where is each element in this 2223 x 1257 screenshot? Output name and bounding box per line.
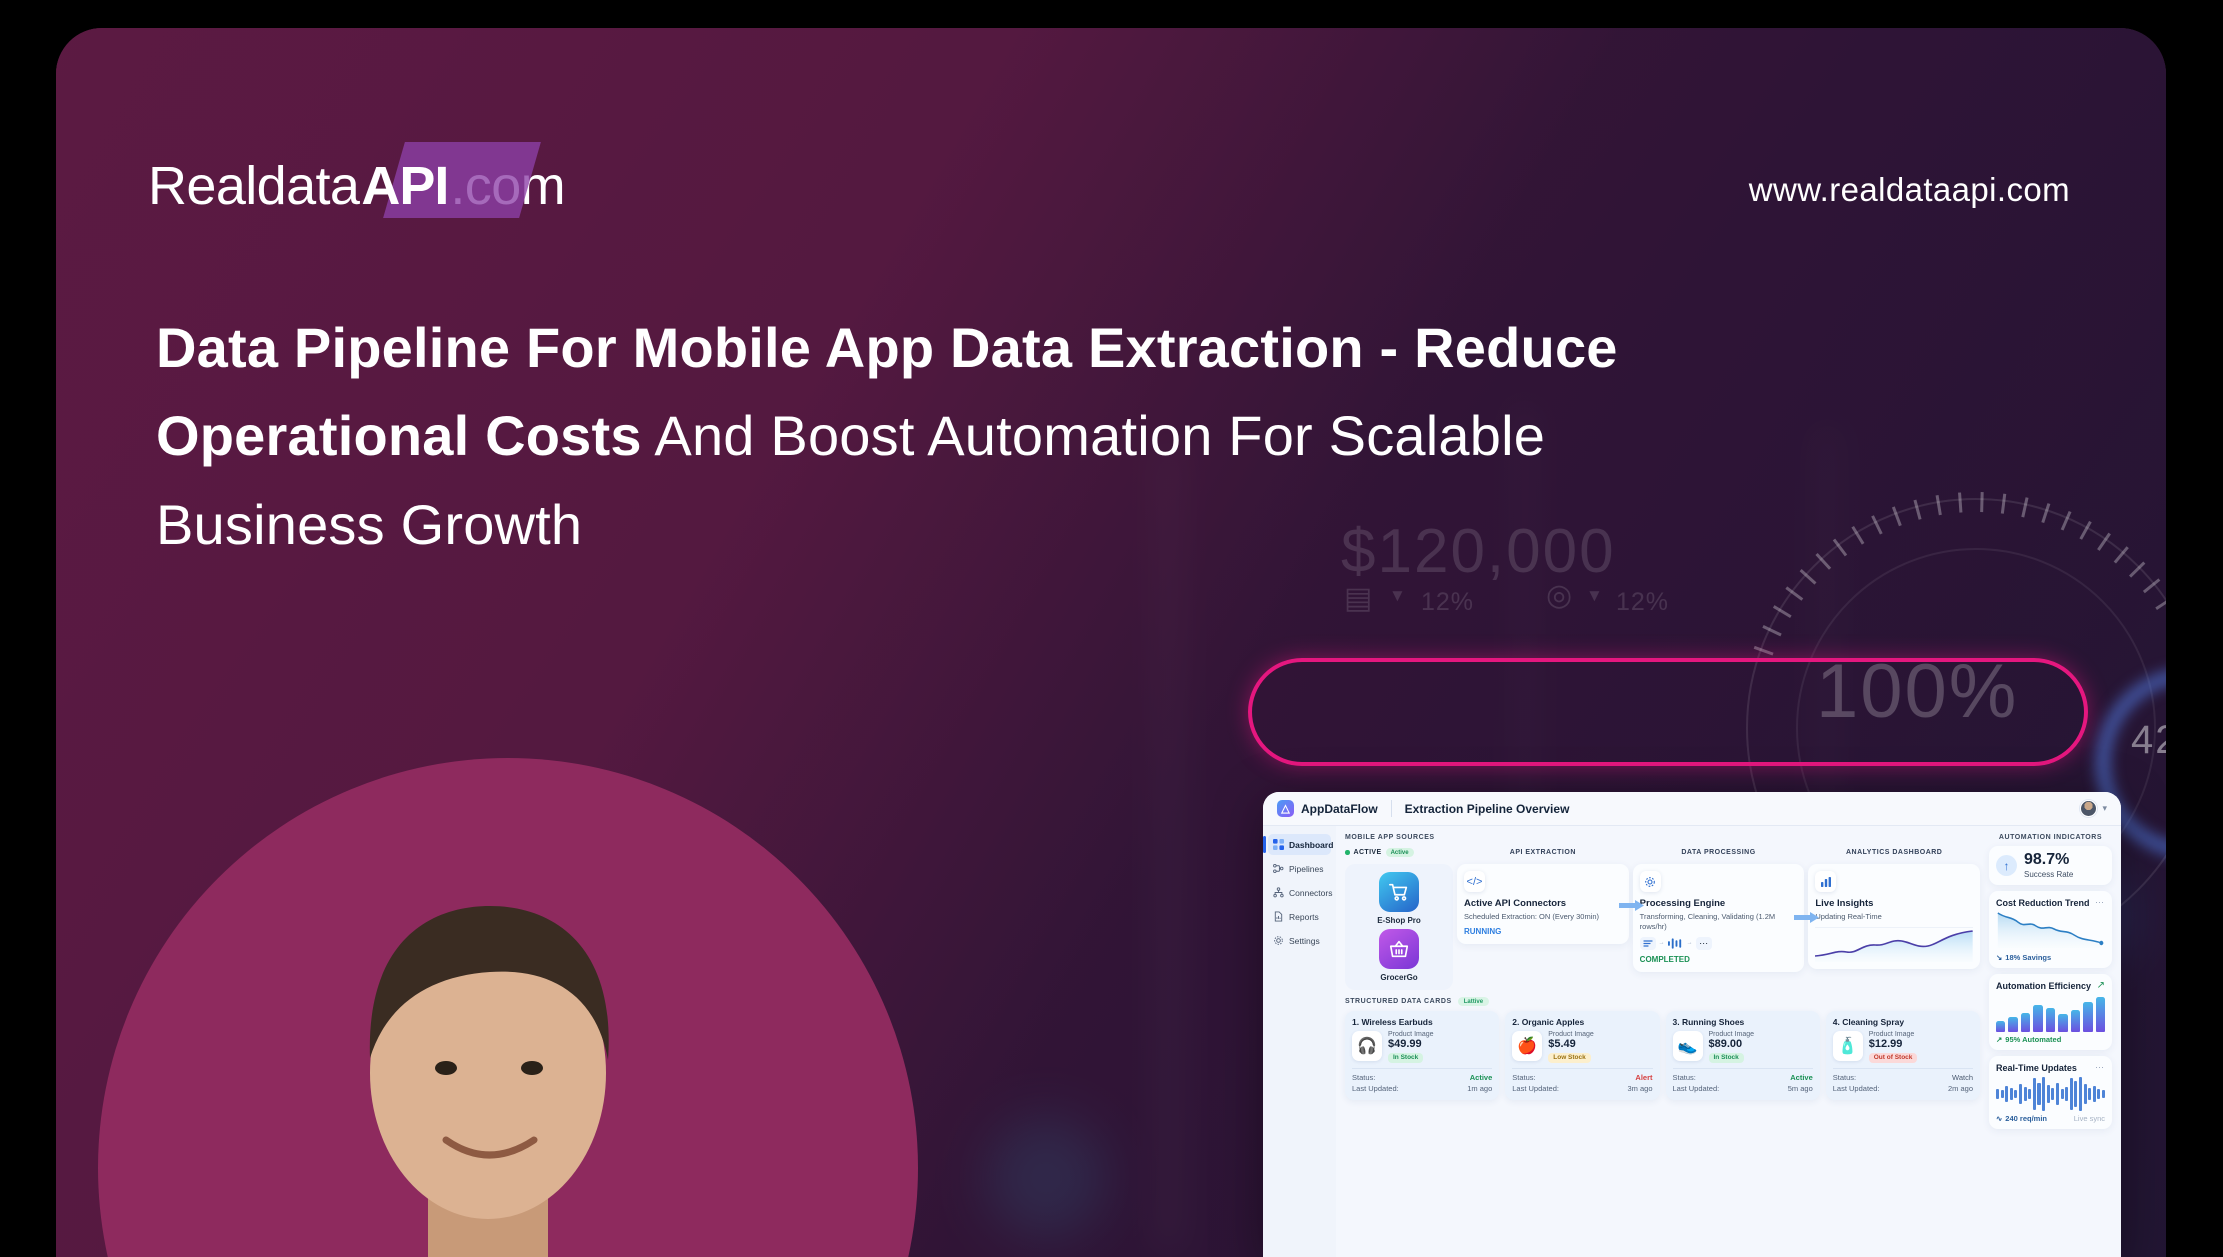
more-dots-icon[interactable]: ⋯ [2095, 897, 2105, 908]
flow-column-analytics: ANALYTICS DASHBOARD Live Insights Updati… [1808, 846, 1980, 969]
product-card[interactable]: 4. Cleaning Spray 🧴 Product Image $12.99… [1826, 1011, 1980, 1100]
dashboard-main: MOBILE APP SOURCES ACTIVE Active [1336, 826, 1989, 1257]
topbar-divider [1391, 800, 1392, 817]
live-insights-chart [1815, 927, 1973, 961]
product-price: $5.49 [1548, 1038, 1594, 1051]
updated-label: Last Updated: [1833, 1083, 1880, 1094]
stage-title: Processing Engine [1640, 898, 1798, 909]
stage-card-api-connectors[interactable]: </> Active API Connectors Scheduled Extr… [1457, 864, 1629, 944]
gear-icon [1640, 871, 1661, 892]
sidebar-item-label: Connectors [1289, 888, 1332, 898]
source-app-label: E-Shop Pro [1377, 916, 1421, 925]
automation-efficiency-title: Automation Efficiency [1996, 981, 2091, 991]
status-label: Status: [1512, 1072, 1535, 1083]
status-label: Status: [1352, 1072, 1375, 1083]
source-app-label: GrocerGo [1380, 973, 1417, 982]
logo-main-text: Realdata [148, 156, 359, 216]
stock-badge: Low Stock [1548, 1053, 1591, 1063]
trend-down-icon: ↘ [1996, 953, 2002, 962]
success-rate-label: Success Rate [2024, 870, 2073, 879]
sidebar-item-settings[interactable]: Settings [1268, 930, 1331, 951]
automation-efficiency-card[interactable]: Automation Efficiency ↗ ↗ 95% Automated [1989, 974, 2112, 1050]
structured-cards-badge: Lattive [1458, 997, 1489, 1006]
automation-indicators-panel: AUTOMATION INDICATORS ↑ 98.7% Success Ra… [1989, 826, 2121, 1257]
flow-column-api-extraction: API EXTRACTION </> Active API Connectors… [1457, 846, 1629, 944]
sidebar-item-reports[interactable]: Reports [1268, 906, 1331, 927]
structured-cards-label: STRUCTURED DATA CARDS [1345, 998, 1452, 1005]
stage-desc: Scheduled Extraction: ON (Every 30min) [1464, 912, 1622, 922]
product-title: 1. Wireless Earbuds [1352, 1017, 1492, 1027]
filter-lines-icon [1640, 937, 1656, 950]
basket-icon[interactable] [1379, 929, 1419, 969]
arrow-up-icon: ↑ [1996, 855, 2017, 876]
stage-card-processing-engine[interactable]: Processing Engine Transforming, Cleaning… [1633, 864, 1805, 972]
product-image-label: Product Image [1388, 1031, 1434, 1038]
structured-cards-header: STRUCTURED DATA CARDS Lattive [1345, 997, 1980, 1006]
status-value: Active [1790, 1072, 1813, 1083]
stage-title: Active API Connectors [1464, 898, 1622, 909]
status-dot-icon [1345, 850, 1350, 855]
status-value: Active [1470, 1072, 1493, 1083]
realtime-updates-card[interactable]: Real-Time Updates ⋯ ∿ 240 req/m [1989, 1056, 2112, 1129]
product-image-label: Product Image [1869, 1031, 1918, 1038]
topbar-actions[interactable]: ▾ [2080, 800, 2107, 817]
product-image-label: Product Image [1548, 1031, 1594, 1038]
sources-section-label: MOBILE APP SOURCES [1345, 834, 1980, 841]
stage-column-label: ANALYTICS DASHBOARD [1846, 849, 1942, 856]
pulse-icon: ∿ [1996, 1114, 2002, 1123]
status-label: Status: [1673, 1072, 1696, 1083]
updated-label: Last Updated: [1352, 1083, 1399, 1094]
status-value: Watch [1952, 1072, 1973, 1083]
product-card[interactable]: 2. Organic Apples 🍎 Product Image $5.49 … [1505, 1011, 1659, 1100]
product-title: 3. Running Shoes [1673, 1017, 1813, 1027]
bar-chart-icon [1815, 871, 1836, 892]
flow-column-sources: ACTIVE Active E-Shop Pro [1345, 846, 1453, 990]
flow-arrow-icon [1619, 899, 1645, 912]
product-card[interactable]: 1. Wireless Earbuds 🎧 Product Image $49.… [1345, 1011, 1499, 1100]
chevron-down-icon[interactable]: ▾ [2102, 803, 2107, 814]
realtime-updates-chart [1996, 1077, 2105, 1111]
headline-line-2: Operational Costs And Boost Automation F… [156, 404, 1886, 467]
avatar[interactable] [2080, 800, 2097, 817]
earbuds-icon: 🎧 [1352, 1031, 1382, 1061]
gear-icon [1273, 935, 1284, 946]
shopping-cart-icon[interactable] [1379, 872, 1419, 912]
product-price: $89.00 [1709, 1038, 1755, 1051]
target-icon: ◎ [1546, 578, 1573, 613]
code-icon: </> [1464, 871, 1485, 892]
stock-badge: In Stock [1388, 1053, 1423, 1063]
shoe-icon: 👟 [1673, 1031, 1703, 1061]
dashboard-mockup[interactable]: △ AppDataFlow Extraction Pipeline Overvi… [1263, 792, 2121, 1257]
product-title: 2. Organic Apples [1512, 1017, 1652, 1027]
trend-up-icon: ↗ [1996, 1035, 2002, 1044]
headline-line-3: Business Growth [156, 493, 1886, 556]
sources-status-row: ACTIVE Active [1345, 846, 1453, 859]
spray-icon: 🧴 [1833, 1031, 1863, 1061]
success-rate-card[interactable]: ↑ 98.7% Success Rate [1989, 846, 2112, 885]
more-dots-icon: ⋯ [1696, 937, 1712, 950]
more-dots-icon[interactable]: ⋯ [2095, 1062, 2105, 1073]
updated-value: 3m ago [1627, 1083, 1652, 1094]
appdataflow-logo-icon: △ [1277, 800, 1294, 817]
headline-line-2-bold: Operational Costs [156, 404, 642, 467]
processing-indicator-row: → → ⋯ [1640, 937, 1798, 950]
cost-reduction-title: Cost Reduction Trend [1996, 898, 2090, 908]
headline-line-1-text: Data Pipeline For Mobile App Data Extrac… [156, 316, 1618, 379]
headline-line-1: Data Pipeline For Mobile App Data Extrac… [156, 316, 1886, 379]
dashboard-topbar: △ AppDataFlow Extraction Pipeline Overvi… [1263, 792, 2121, 826]
stock-badge: Out of Stock [1869, 1053, 1918, 1063]
source-apps-box: E-Shop Pro GrocerGo [1345, 864, 1453, 990]
triangle-down-a-icon: ▼ [1389, 586, 1407, 606]
automation-efficiency-chart [1996, 996, 2105, 1032]
updated-value: 5m ago [1788, 1083, 1813, 1094]
grid-icon [1273, 839, 1284, 850]
marketing-banner: $120,000 12% 12% ▤ ◎ ▼ ▼ 100% 42% [56, 28, 2166, 1257]
sidebar-item-label: Settings [1289, 936, 1320, 946]
realtime-updates-note: Live sync [2074, 1114, 2105, 1123]
apple-icon: 🍎 [1512, 1031, 1542, 1061]
automation-efficiency-footer: 95% Automated [2005, 1035, 2061, 1044]
realtime-updates-title: Real-Time Updates [1996, 1063, 2077, 1073]
sidebar-item-connectors[interactable]: Connectors [1268, 882, 1331, 903]
page-title: Data Pipeline For Mobile App Data Extrac… [156, 316, 1886, 581]
product-title: 4. Cleaning Spray [1833, 1017, 1973, 1027]
status-label: Status: [1833, 1072, 1856, 1083]
stage-column-label: DATA PROCESSING [1681, 849, 1755, 856]
pipeline-icon [1273, 863, 1284, 874]
stage-card-live-insights[interactable]: Live Insights Updating Real-Time [1808, 864, 1980, 969]
updated-value: 2m ago [1948, 1083, 1973, 1094]
connectors-icon [1273, 887, 1284, 898]
flow-arrow-icon [1794, 911, 1820, 924]
sidebar-item-label: Dashboard [1289, 840, 1333, 850]
stage-status: RUNNING [1464, 927, 1622, 936]
ghost-metric-b: 12% [1616, 588, 1669, 617]
logo-accent-text: API [359, 156, 450, 216]
cost-reduction-footer: 18% Savings [2005, 953, 2051, 962]
flow-column-data-processing: DATA PROCESSING Processing Engine Transf… [1633, 846, 1805, 972]
updated-label: Last Updated: [1673, 1083, 1720, 1094]
sidebar-item-dashboard[interactable]: Dashboard [1268, 834, 1331, 855]
trend-up-icon: ↗ [2097, 980, 2105, 991]
product-price: $49.99 [1388, 1038, 1434, 1051]
sources-status-label: ACTIVE [1354, 849, 1382, 856]
dashboard-title: Extraction Pipeline Overview [1405, 802, 1570, 816]
report-icon [1273, 911, 1284, 922]
dashboard-body: Dashboard Pipelines Connectors [1263, 826, 2121, 1257]
equalizer-icon [1668, 937, 1684, 950]
pipeline-flow: ACTIVE Active E-Shop Pro [1345, 846, 1980, 990]
cost-reduction-card[interactable]: Cost Reduction Trend ⋯ ↘ 18 [1989, 891, 2112, 968]
sidebar-item-label: Reports [1289, 912, 1319, 922]
screenshot-canvas: $120,000 12% 12% ▤ ◎ ▼ ▼ 100% 42% [0, 0, 2223, 1257]
stage-title: Live Insights [1815, 898, 1973, 909]
sidebar-item-label: Pipelines [1289, 864, 1324, 874]
stage-desc: Updating Real-Time [1815, 912, 1973, 922]
success-rate-value: 98.7% [2024, 852, 2073, 868]
status-value: Alert [1635, 1072, 1652, 1083]
structured-cards-row: 1. Wireless Earbuds 🎧 Product Image $49.… [1345, 1011, 1980, 1100]
headline-line-2-rest: And Boost Automation For Scalable [642, 404, 1545, 467]
product-price: $12.99 [1869, 1038, 1918, 1051]
sidebar-item-pipelines[interactable]: Pipelines [1268, 858, 1331, 879]
realtime-updates-footer: 240 req/min [2005, 1114, 2047, 1123]
indicators-section-label: AUTOMATION INDICATORS [1989, 834, 2112, 841]
product-card[interactable]: 3. Running Shoes 👟 Product Image $89.00 … [1666, 1011, 1820, 1100]
status-badge: Active [1386, 848, 1414, 857]
dashboard-brand: AppDataFlow [1301, 802, 1378, 816]
stock-badge: In Stock [1709, 1053, 1744, 1063]
calendar-icon: ▤ [1344, 581, 1373, 616]
triangle-down-b-icon: ▼ [1586, 586, 1604, 606]
site-url[interactable]: www.realdataapi.com [1749, 171, 2070, 209]
pink-highlight-frame [1248, 658, 2088, 766]
updated-label: Last Updated: [1512, 1083, 1559, 1094]
dashboard-sidebar[interactable]: Dashboard Pipelines Connectors [1263, 826, 1336, 1257]
stage-status: COMPLETED [1640, 955, 1798, 964]
product-image-label: Product Image [1709, 1031, 1755, 1038]
updated-value: 1m ago [1467, 1083, 1492, 1094]
cost-reduction-chart [1996, 908, 2105, 948]
ghost-metric-a: 12% [1421, 588, 1474, 617]
stage-desc: Transforming, Cleaning, Validating (1.2M… [1640, 912, 1798, 932]
stage-column-label: API EXTRACTION [1510, 849, 1576, 856]
